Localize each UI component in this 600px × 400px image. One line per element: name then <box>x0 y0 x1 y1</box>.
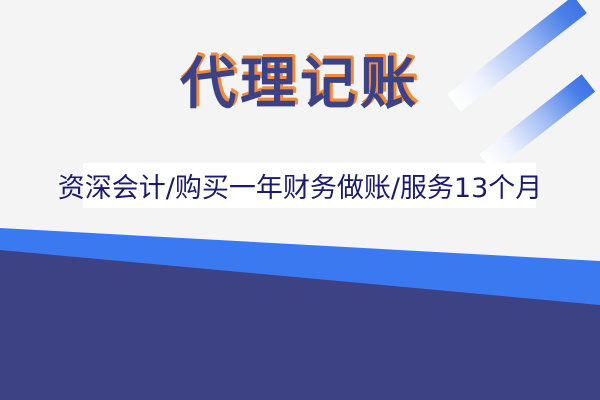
promo-banner: 代理记账 资深会计/购买一年财务做账/服务13个月 <box>0 0 600 400</box>
page-title: 代理记账 <box>180 56 420 115</box>
subtitle-text: 资深会计/购买一年财务做账/服务13个月 <box>0 172 600 206</box>
headline-container: 代理记账 <box>0 56 600 115</box>
